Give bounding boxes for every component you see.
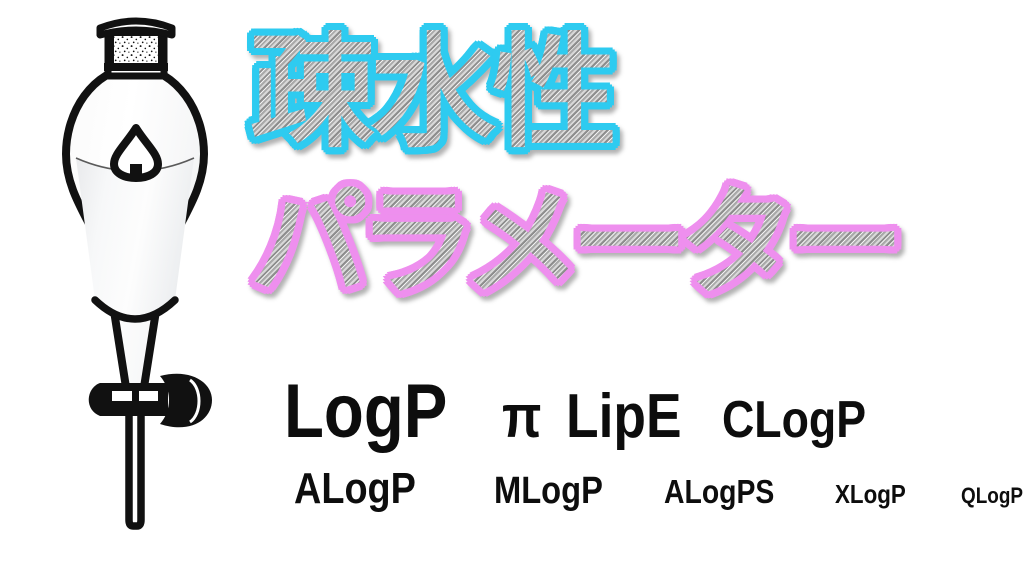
liquid-column [76, 158, 194, 319]
headline-line-parameter: パラメーター [250, 184, 1010, 302]
descriptor-row-secondary: ALogP MLogP ALogPS XLogP QLogP [294, 464, 1024, 514]
headline-line-hydrophobic: 疎水性 [250, 30, 1010, 155]
descriptor-list: LogP π LipE CLogP ALogP MLogP ALogPS XLo… [258, 368, 958, 538]
poster-canvas: 疎水性 パラメーター LogP π LipE CLogP ALogP MLogP… [0, 0, 1024, 576]
descriptor-row-primary: LogP π LipE CLogP [284, 368, 890, 455]
descriptor-clogp: CLogP [722, 390, 866, 450]
descriptor-xlogp: XLogP [835, 479, 906, 510]
descriptor-qlogp: QLogP [961, 483, 1023, 509]
drain-stem [129, 402, 141, 526]
descriptor-alogps: ALogPS [664, 473, 774, 511]
glass-stopper [100, 21, 172, 71]
descriptor-alogp: ALogP [294, 464, 416, 514]
headline-block: 疎水性 パラメーター [250, 14, 1010, 314]
descriptor-pi: π [502, 382, 542, 451]
stopcock-valve [89, 383, 168, 416]
descriptor-lipe: LipE [566, 381, 682, 452]
separatory-funnel-figure [40, 8, 240, 553]
descriptor-logp: LogP [284, 368, 447, 455]
descriptor-mlogp: MLogP [494, 470, 603, 513]
